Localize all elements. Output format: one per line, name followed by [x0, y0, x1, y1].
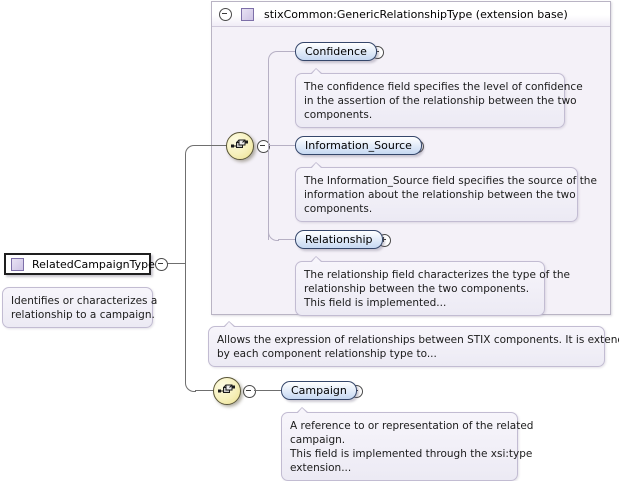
element-relationship[interactable]: Relationship	[295, 230, 383, 249]
annotation-line: campaign.	[290, 433, 509, 447]
sequence-compositor-icon-bottom[interactable]	[213, 377, 241, 405]
connector-branch-top	[195, 145, 207, 146]
panel-branch-line-relationship	[278, 239, 295, 240]
annotation-line: relationship to a campaign.	[11, 308, 144, 322]
annotation-confidence: The confidence field specifies the level…	[295, 73, 565, 128]
element-information-source-label: Information_Source	[305, 139, 412, 152]
annotation-pointer-campaign	[296, 407, 309, 413]
connector-branch-bottom	[195, 390, 215, 391]
panel-branch-line-information-source	[268, 145, 295, 146]
minus-circle-icon-panel[interactable]	[219, 8, 232, 21]
annotation-information-source: The Information_Source field specifies t…	[295, 167, 578, 222]
extension-base-header: stixCommon:GenericRelationshipType (exte…	[212, 2, 610, 27]
annotation-line: by each component relationship type to..…	[217, 347, 596, 361]
type-square-icon-panel	[241, 8, 254, 21]
element-campaign-label: Campaign	[291, 384, 347, 397]
annotation-line: components.	[304, 202, 569, 216]
annotation-line: extension...	[290, 461, 509, 475]
element-relationship-label: Relationship	[305, 233, 373, 246]
minus-circle-icon-sequence-bottom[interactable]	[243, 385, 256, 398]
panel-tree-spine	[268, 60, 269, 240]
annotation-line: This field is implemented through the xs…	[290, 447, 509, 461]
sequence-compositor-icon-top[interactable]	[226, 132, 254, 160]
annotation-pointer-confidence	[310, 68, 323, 74]
annotation-extension-base: Allows the expression of relationships b…	[208, 326, 605, 367]
sequence-glyph-top	[231, 139, 249, 153]
annotation-line: A reference to or representation of the …	[290, 419, 509, 433]
connector-to-campaign	[254, 390, 282, 391]
annotation-pointer-relationship	[310, 256, 323, 262]
element-confidence[interactable]: Confidence	[295, 42, 377, 61]
type-square-icon-root	[11, 258, 24, 271]
extension-base-title: stixCommon:GenericRelationshipType (exte…	[264, 8, 568, 21]
connector-elbow-top	[185, 145, 196, 156]
annotation-root: Identifies or characterizes a relationsh…	[2, 287, 153, 328]
annotation-campaign: A reference to or representation of the …	[281, 412, 518, 481]
connector-root-stub	[166, 263, 185, 264]
annotation-relationship: The relationship field characterizes the…	[295, 261, 545, 316]
annotation-line: This field is implemented...	[304, 296, 536, 310]
root-type-box[interactable]: RelatedCampaignType	[4, 253, 151, 275]
annotation-pointer-information-source	[310, 162, 323, 168]
minus-circle-icon-root[interactable]	[155, 258, 168, 271]
annotation-pointer-extension-base	[223, 321, 236, 327]
annotation-line: in the assertion of the relationship bet…	[304, 94, 556, 108]
element-confidence-label: Confidence	[305, 45, 367, 58]
annotation-line: relationship between the two components.	[304, 282, 536, 296]
annotation-line: The Information_Source field specifies t…	[304, 174, 569, 188]
element-information-source[interactable]: Information_Source	[295, 136, 422, 155]
annotation-line: The confidence field specifies the level…	[304, 80, 556, 94]
root-type-label: RelatedCampaignType	[32, 258, 155, 271]
connector-root-spine	[185, 154, 186, 381]
annotation-line: information about the relationship betwe…	[304, 188, 569, 202]
annotation-line: Allows the expression of relationships b…	[217, 333, 596, 347]
panel-tree-elbow-top	[268, 51, 279, 62]
annotation-line: Identifies or characterizes a	[11, 294, 144, 308]
sequence-glyph-bottom	[218, 384, 236, 398]
element-campaign[interactable]: Campaign	[281, 381, 357, 400]
annotation-line: components.	[304, 108, 556, 122]
annotation-line: The relationship field characterizes the…	[304, 268, 536, 282]
panel-branch-line-confidence	[278, 51, 295, 52]
